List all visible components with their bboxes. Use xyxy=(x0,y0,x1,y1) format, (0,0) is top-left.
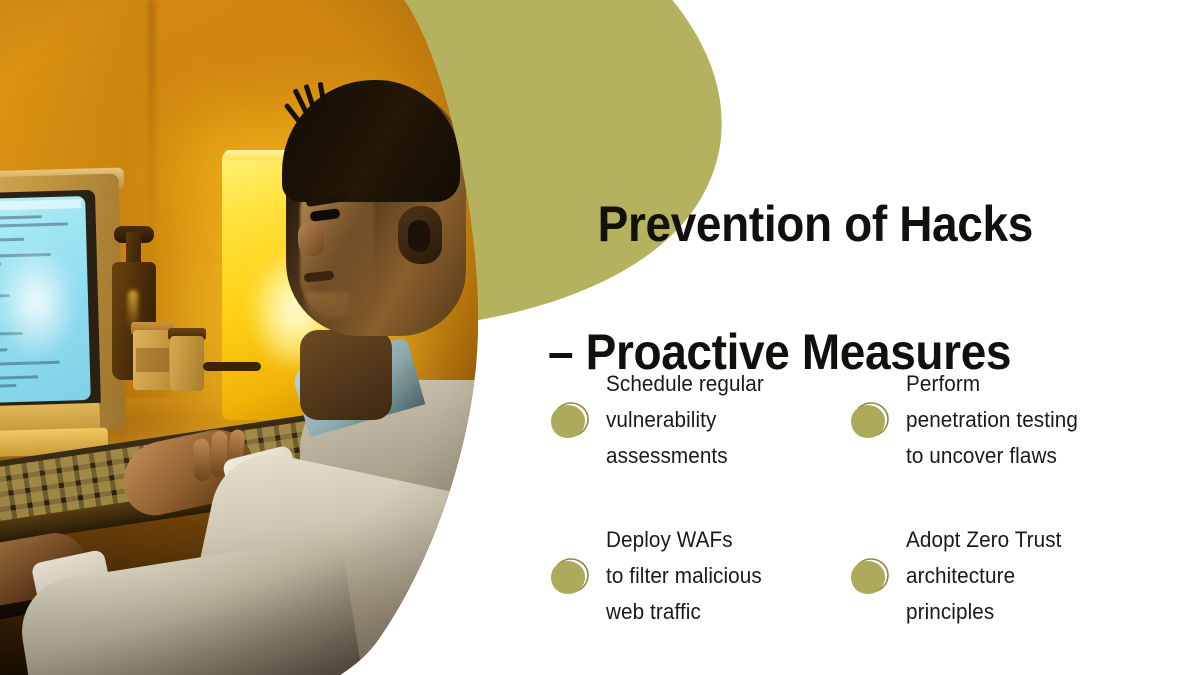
bullet-grid: Schedule regular vulnerability assessmen… xyxy=(548,366,1168,630)
list-item[interactable]: Schedule regular vulnerability assessmen… xyxy=(548,366,848,474)
blob-bullet-icon xyxy=(548,398,592,442)
list-item-label: Schedule regular vulnerability assessmen… xyxy=(606,366,764,474)
blob-bullet-icon xyxy=(848,398,892,442)
hero-photo xyxy=(0,0,500,675)
photo-scene xyxy=(0,0,500,675)
title-line-1: Prevention of Hacks xyxy=(598,196,1033,252)
list-item[interactable]: Perform penetration testing to uncover f… xyxy=(848,366,1148,474)
photo-vignette xyxy=(0,0,500,675)
list-item-label: Deploy WAFs to filter malicious web traf… xyxy=(606,522,762,630)
list-item[interactable]: Adopt Zero Trust architecture principles xyxy=(848,522,1148,630)
list-item-label: Adopt Zero Trust architecture principles xyxy=(906,522,1062,630)
blob-bullet-icon xyxy=(848,554,892,598)
list-item-label: Perform penetration testing to uncover f… xyxy=(906,366,1078,474)
blob-bullet-icon xyxy=(548,554,592,598)
slide: Prevention of Hacks – Proactive Measures… xyxy=(0,0,1200,675)
list-item[interactable]: Deploy WAFs to filter malicious web traf… xyxy=(548,522,848,630)
